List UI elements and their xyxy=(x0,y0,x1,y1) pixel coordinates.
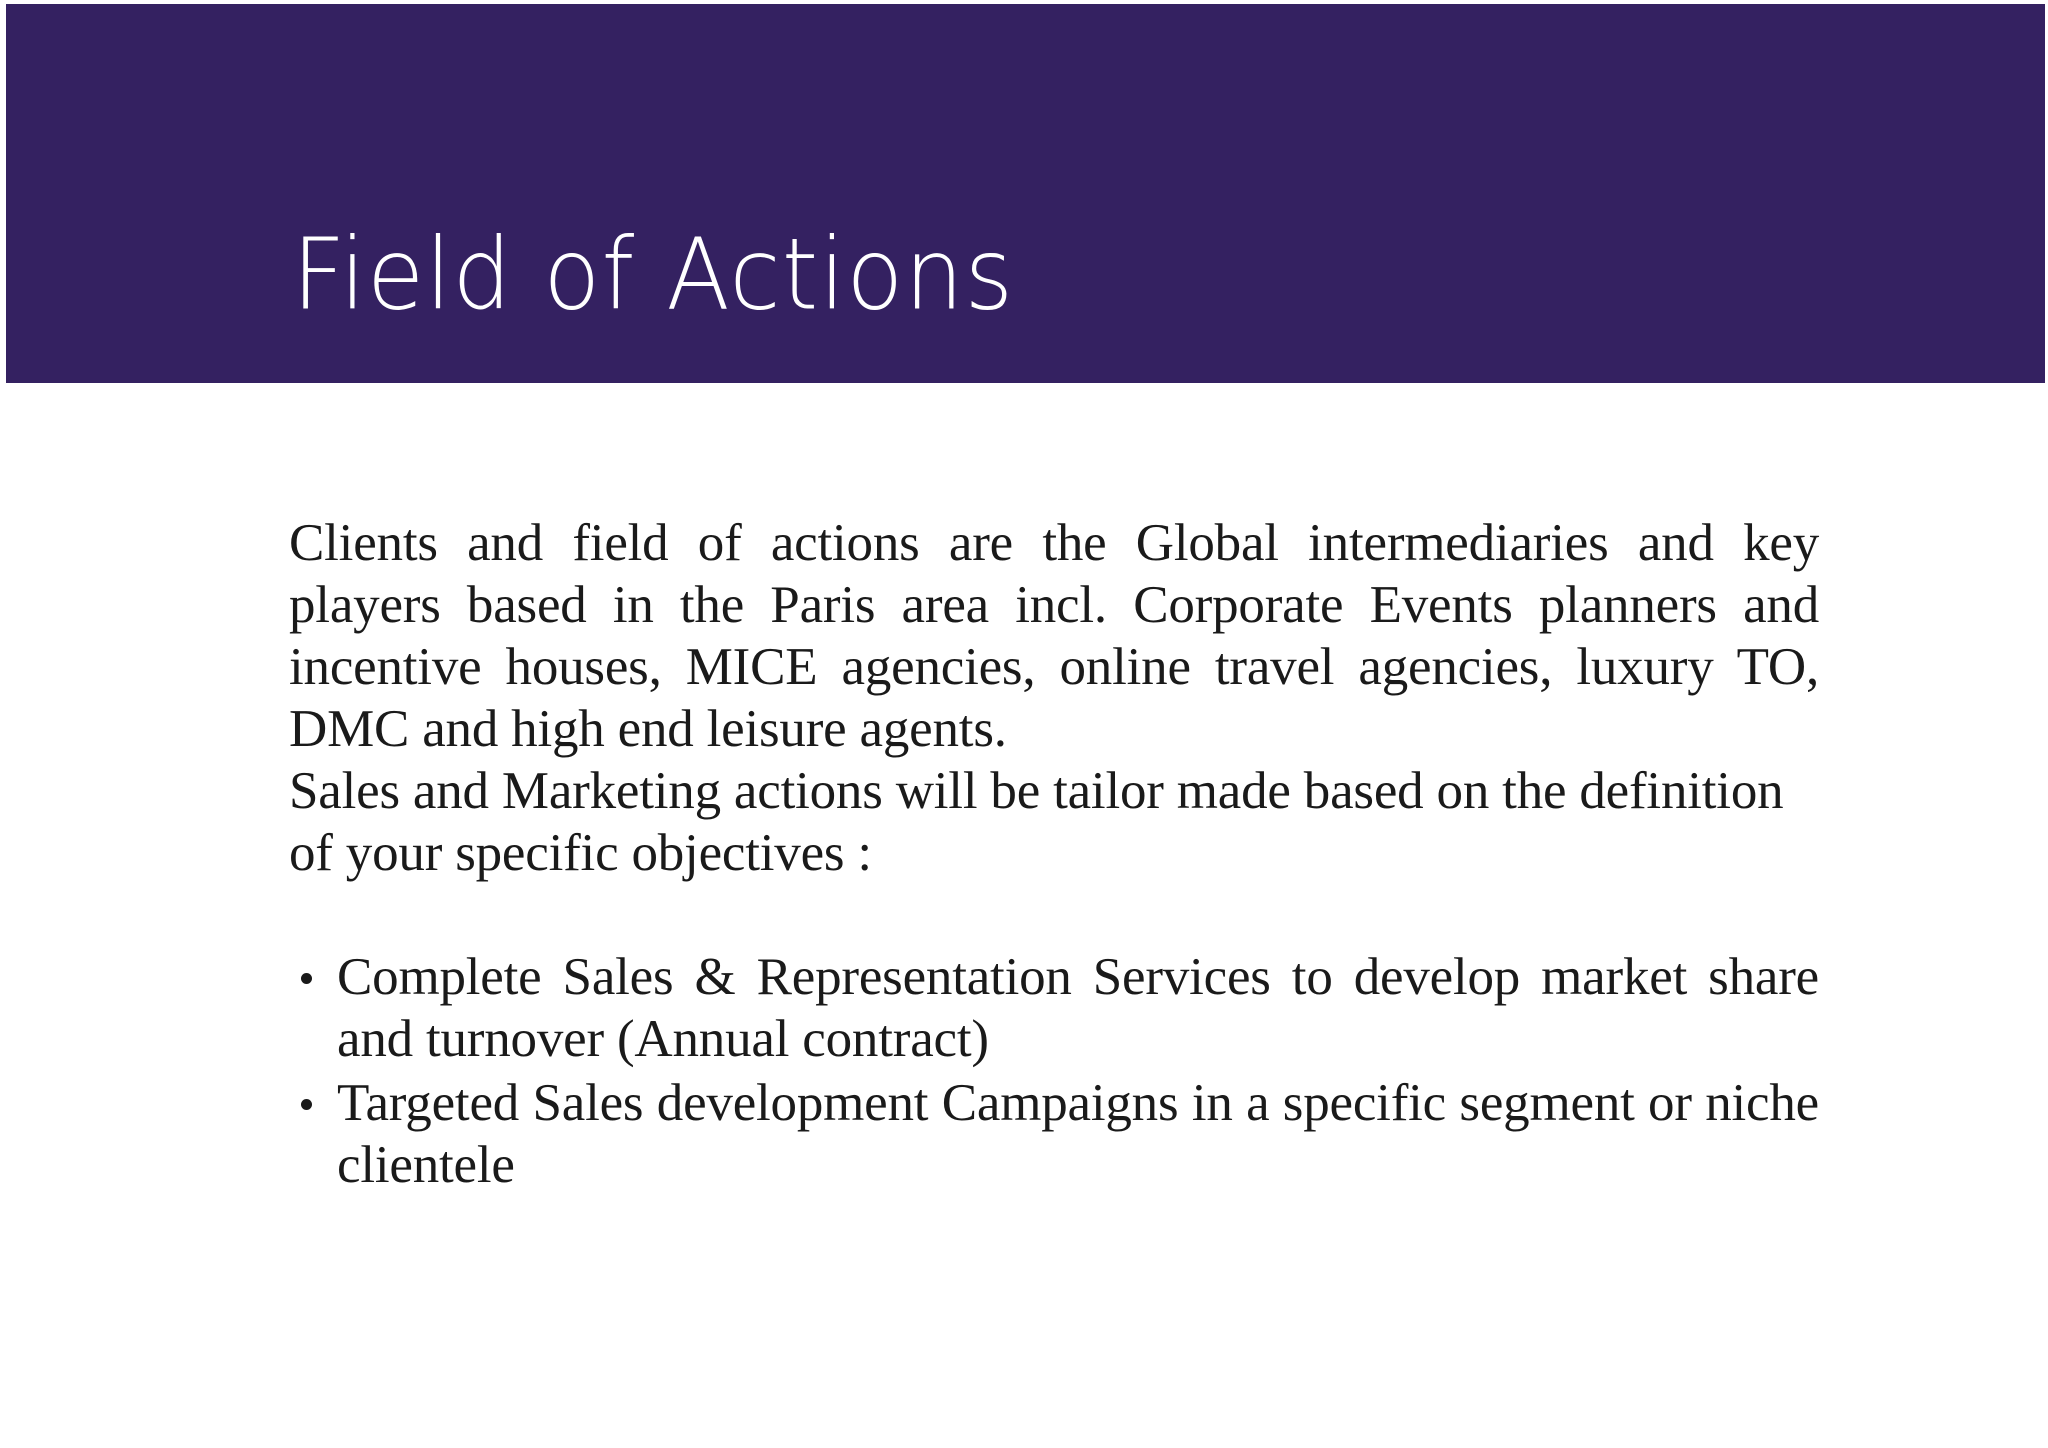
list-item: Targeted Sales development Campaigns in … xyxy=(289,1072,1819,1196)
slide-body: Clients and field of actions are the Glo… xyxy=(289,512,1819,1198)
body-paragraph-1: Clients and field of actions are the Glo… xyxy=(289,512,1819,760)
list-item: Complete Sales & Representation Services… xyxy=(289,946,1819,1070)
list-item-label: Complete Sales & Representation Services… xyxy=(337,948,1819,1068)
objectives-list: Complete Sales & Representation Services… xyxy=(289,946,1819,1196)
slide-header-band: Field of Actions xyxy=(0,0,2048,383)
bullet-dot-icon xyxy=(301,973,312,984)
bullet-dot-icon xyxy=(301,1099,312,1110)
body-paragraph-2: Sales and Marketing actions will be tail… xyxy=(289,760,1819,884)
page-title: Field of Actions xyxy=(292,226,1014,325)
slide-root: Field of Actions Clients and field of ac… xyxy=(0,0,2048,1448)
list-item-label: Targeted Sales development Campaigns in … xyxy=(337,1074,1819,1194)
